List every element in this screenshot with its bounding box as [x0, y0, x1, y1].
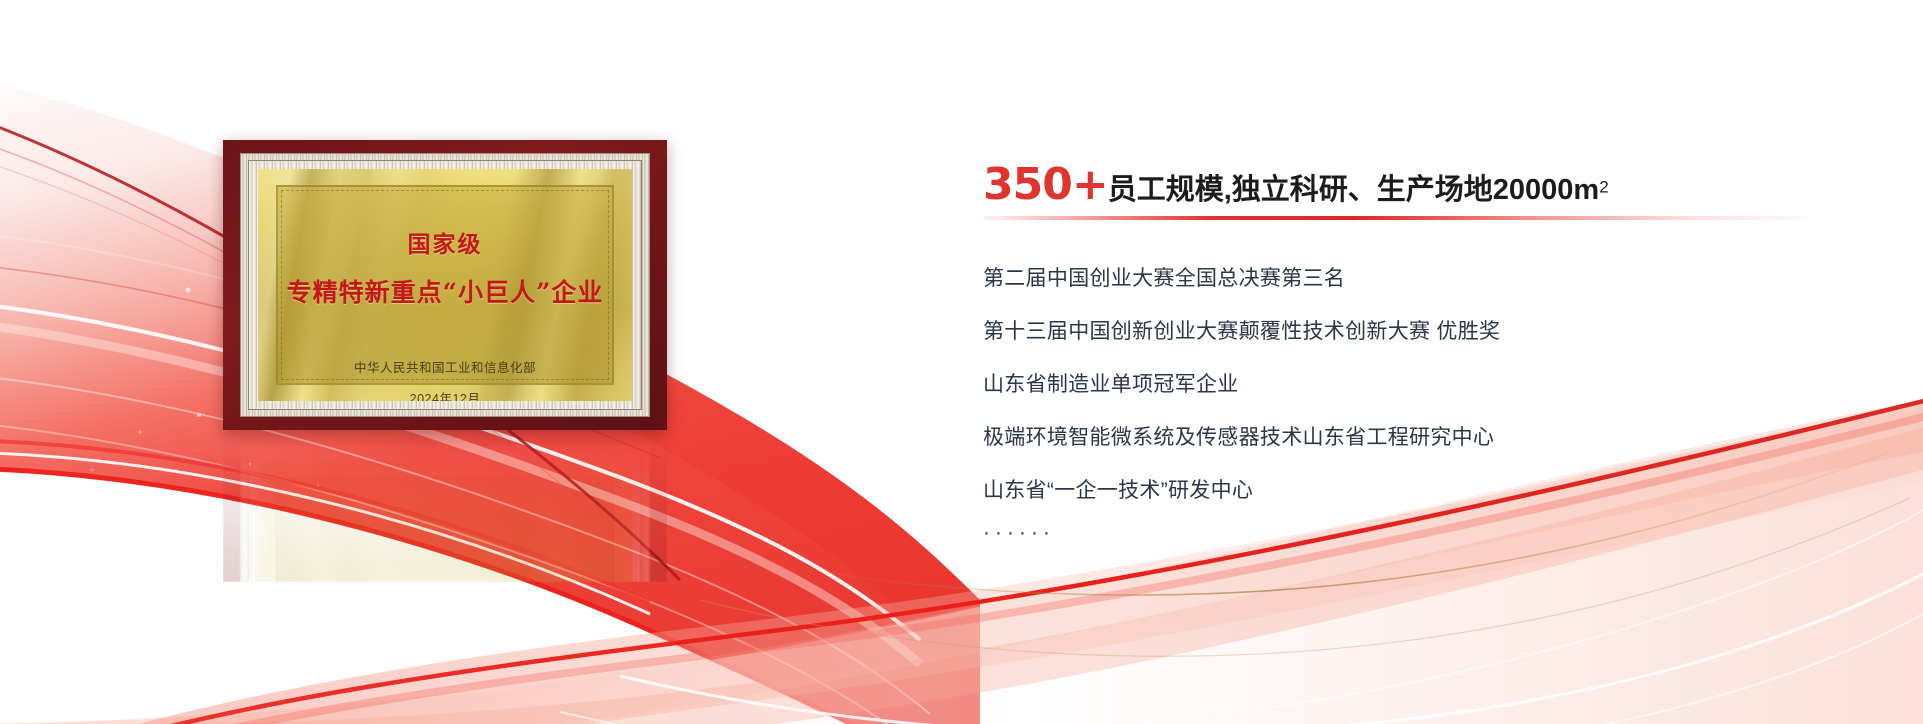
headline-superscript: 2: [1599, 178, 1608, 197]
plaque-gold-plate: 国家级 专精特新重点“小巨人”企业 中华人民共和国工业和信息化部 2024年12…: [258, 169, 632, 401]
red-edge-lines: [0, 440, 920, 724]
headline-number: 350+: [983, 159, 1108, 210]
list-item: 极端环境智能微系统及传感器技术山东省工程研究中心: [983, 421, 1883, 451]
list-item: 第十三届中国创新创业大赛颠覆性技术创新大赛 优胜奖: [983, 315, 1883, 345]
honors-content: 350+员工规模,独立科研、生产场地20000m2 第二届中国创业大赛全国总决赛…: [983, 163, 1883, 545]
honors-banner: 国家级 专精特新重点“小巨人”企业 中华人民共和国工业和信息化部 2024年12…: [0, 0, 1923, 724]
award-plaque: 国家级 专精特新重点“小巨人”企业 中华人民共和国工业和信息化部 2024年12…: [223, 140, 667, 430]
award-list: 第二届中国创业大赛全国总决赛第三名 第十三届中国创新创业大赛颠覆性技术创新大赛 …: [983, 262, 1883, 504]
plaque-reflection: [223, 432, 667, 582]
red-mass-edge: [0, 470, 920, 724]
plaque-date: 2024年12月: [410, 388, 481, 401]
plaque-issuer: 中华人民共和国工业和信息化部: [354, 357, 536, 376]
list-item: 山东省“一企一技术”研发中心: [983, 474, 1883, 504]
headline-text: 员工规模,独立科研、生产场地20000m: [1108, 174, 1600, 206]
list-item: 山东省制造业单项冠军企业: [983, 368, 1883, 398]
headline-underline: [983, 216, 1807, 220]
award-list-ellipsis: ······: [983, 521, 1883, 545]
plaque-title-line-1: 国家级: [408, 225, 483, 259]
plaque-silver-frame: 国家级 专精特新重点“小巨人”企业 中华人民共和国工业和信息化部 2024年12…: [240, 153, 650, 417]
list-item: 第二届中国创业大赛全国总决赛第三名: [983, 262, 1883, 292]
plaque-title-line-2: 专精特新重点“小巨人”企业: [287, 273, 604, 309]
plaque-inner-frame: 国家级 专精特新重点“小巨人”企业 中华人民共和国工业和信息化部 2024年12…: [248, 160, 642, 410]
headline: 350+员工规模,独立科研、生产场地20000m2: [983, 163, 1883, 207]
